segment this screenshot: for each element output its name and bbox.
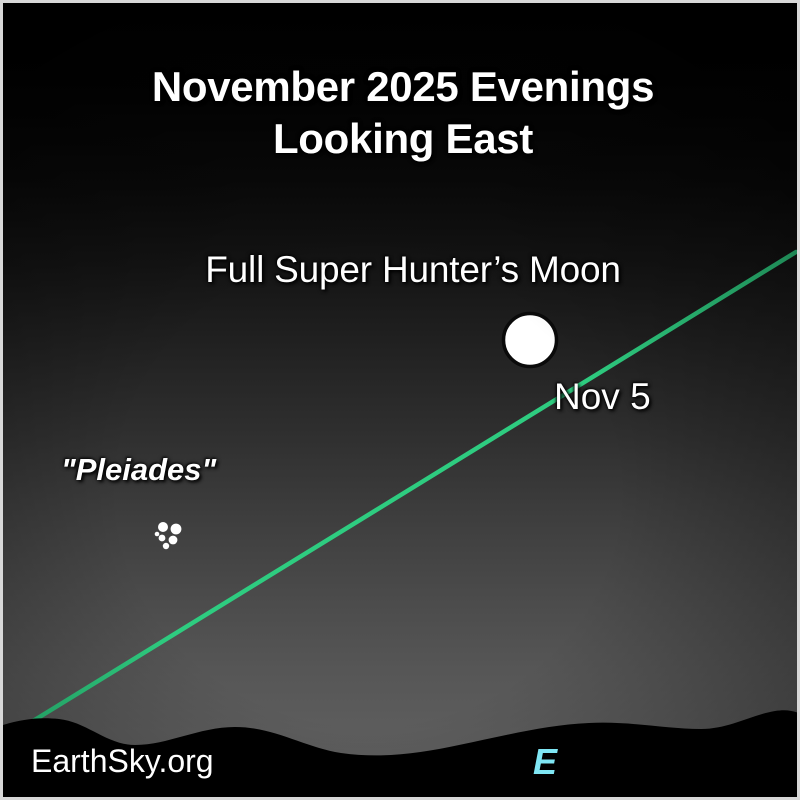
pleiades-star bbox=[158, 522, 168, 532]
pleiades-star bbox=[171, 524, 182, 535]
site-watermark: EarthSky.org bbox=[31, 743, 214, 780]
pleiades-label: "Pleiades" bbox=[61, 452, 216, 488]
title-line-2: Looking East bbox=[3, 113, 800, 165]
moon-date-label: Nov 5 bbox=[554, 376, 651, 418]
page-title: November 2025 Evenings Looking East bbox=[3, 61, 800, 165]
moon-label: Full Super Hunter’s Moon bbox=[3, 249, 800, 291]
pleiades-star bbox=[155, 532, 160, 537]
pleiades-star bbox=[163, 543, 169, 549]
title-line-1: November 2025 Evenings bbox=[152, 63, 654, 110]
sky-chart: November 2025 Evenings Looking East Full… bbox=[0, 0, 800, 800]
cardinal-direction-east: E bbox=[533, 741, 557, 783]
pleiades-star bbox=[169, 536, 178, 545]
pleiades-star bbox=[159, 535, 166, 542]
